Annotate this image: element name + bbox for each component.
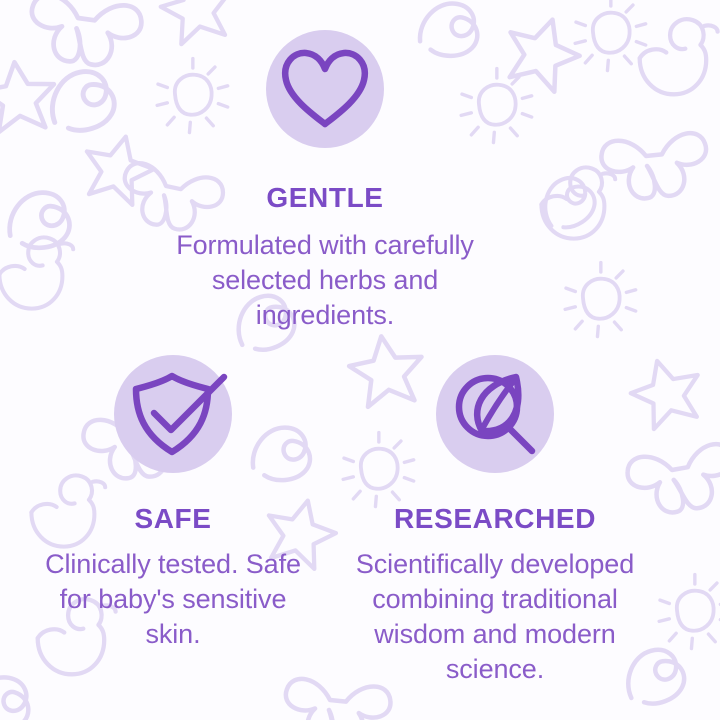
feature-gentle: GENTLE Formulated with carefully selecte… (95, 30, 555, 333)
safe-icon-badge (114, 355, 232, 473)
feature-safe-description: Clinically tested. Safe for baby's sensi… (33, 547, 313, 652)
feature-researched-title: RESEARCHED (394, 505, 596, 533)
gentle-icon-badge (266, 30, 384, 148)
researched-icon-badge (436, 355, 554, 473)
feature-safe-title: SAFE (134, 505, 211, 533)
heart-icon (266, 30, 384, 148)
feature-gentle-description: Formulated with carefully selected herbs… (155, 228, 495, 333)
feature-researched-description: Scientifically developed combining tradi… (330, 547, 660, 687)
feature-gentle-title: GENTLE (266, 184, 383, 212)
leaf-magnifier-icon (436, 355, 554, 473)
feature-researched: RESEARCHED Scientifically developed comb… (330, 355, 660, 687)
feature-safe: SAFE Clinically tested. Safe for baby's … (28, 355, 318, 652)
infographic-canvas: GENTLE Formulated with carefully selecte… (0, 0, 720, 720)
shield-check-icon (114, 355, 232, 473)
